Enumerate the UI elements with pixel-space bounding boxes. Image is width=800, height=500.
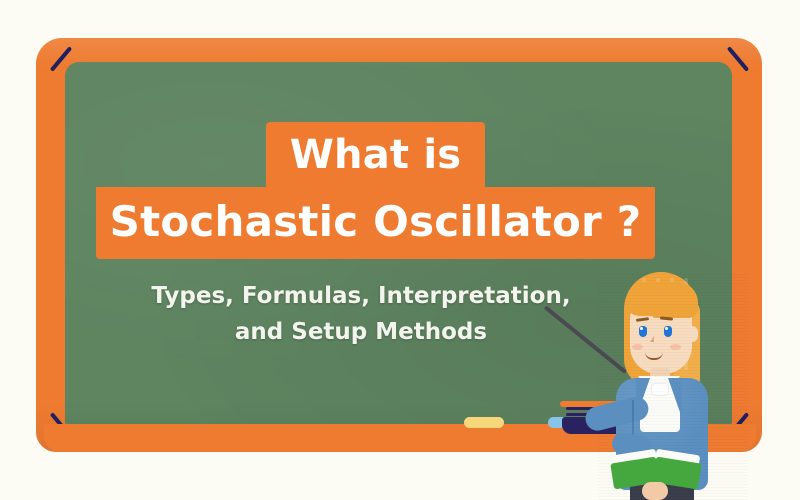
teacher-hair-bangs: [626, 282, 698, 316]
teacher-ear: [686, 326, 698, 342]
teacher-lapel-right: [668, 378, 682, 418]
subtitle-line-2: and Setup Methods: [96, 314, 626, 350]
teacher-illustration: [598, 272, 748, 500]
teacher-tie: [652, 384, 668, 395]
yellow-chalk-icon: [464, 417, 504, 428]
teacher-cheek-right: [670, 344, 681, 350]
subtitle: Types, Formulas, Interpretation, and Set…: [96, 278, 626, 350]
thumbnail-canvas: What is Stochastic Oscillator ? Types, F…: [0, 0, 800, 500]
teacher-book-hand: [642, 482, 668, 500]
title-line-2: Stochastic Oscillator ?: [96, 194, 655, 250]
teacher-eye-left: [639, 326, 647, 337]
teacher-cheek-left: [632, 344, 643, 350]
teacher-nose: [650, 336, 654, 342]
title-line-1: What is: [266, 130, 485, 180]
teacher-lapel-left: [636, 378, 650, 418]
teacher-eye-right: [664, 326, 672, 337]
